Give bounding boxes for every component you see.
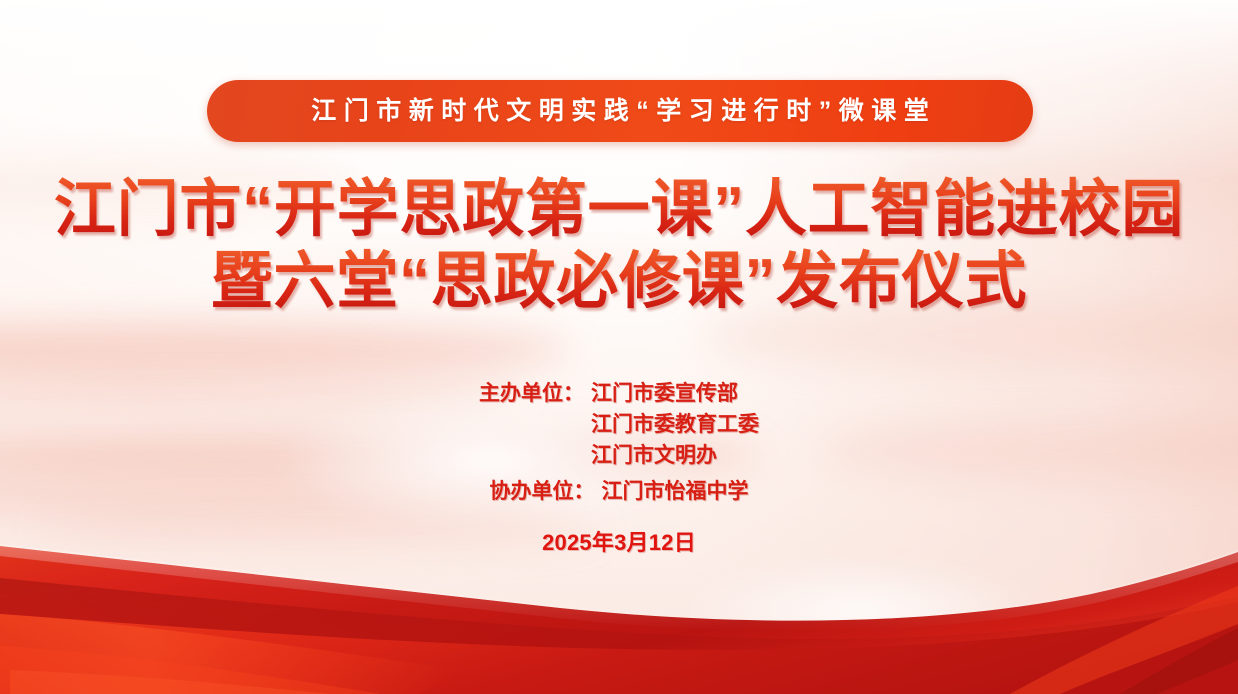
title-line-2: 暨六堂“思政必修课”发布仪式 bbox=[0, 248, 1238, 316]
co-organizer-row: 协办单位： 江门市怡福中学 bbox=[490, 476, 749, 507]
host-organizer-values: 江门市委宣传部 江门市委教育工委 江门市文明办 bbox=[591, 378, 759, 471]
poster-canvas: 江门市新时代文明实践“学习进行时”微课堂 江门市“开学思政第一课”人工智能进校园… bbox=[0, 0, 1238, 694]
host-organizer-item: 江门市文明办 bbox=[591, 440, 759, 471]
cloud-wisp bbox=[0, 322, 570, 376]
host-organizer-item: 江门市委宣传部 bbox=[591, 378, 759, 409]
header-banner-text: 江门市新时代文明实践“学习进行时”微课堂 bbox=[304, 99, 937, 124]
co-organizer-label: 协办单位： bbox=[490, 476, 602, 507]
co-organizer-values: 江门市怡福中学 bbox=[602, 476, 749, 507]
host-organizer-row: 主办单位： 江门市委宣传部 江门市委教育工委 江门市文明办 bbox=[479, 378, 759, 471]
organizer-block: 主办单位： 江门市委宣传部 江门市委教育工委 江门市文明办 协办单位： 江门市怡… bbox=[0, 378, 1238, 557]
header-banner-pill: 江门市新时代文明实践“学习进行时”微课堂 bbox=[207, 80, 1033, 142]
event-date: 2025年3月12日 bbox=[542, 525, 696, 557]
co-organizer-item: 江门市怡福中学 bbox=[602, 476, 749, 507]
title-line-1: 江门市“开学思政第一课”人工智能进校园 bbox=[0, 176, 1238, 244]
page-title: 江门市“开学思政第一课”人工智能进校园 暨六堂“思政必修课”发布仪式 bbox=[0, 176, 1238, 316]
host-organizer-item: 江门市委教育工委 bbox=[591, 409, 759, 440]
host-organizer-label: 主办单位： bbox=[479, 378, 591, 471]
